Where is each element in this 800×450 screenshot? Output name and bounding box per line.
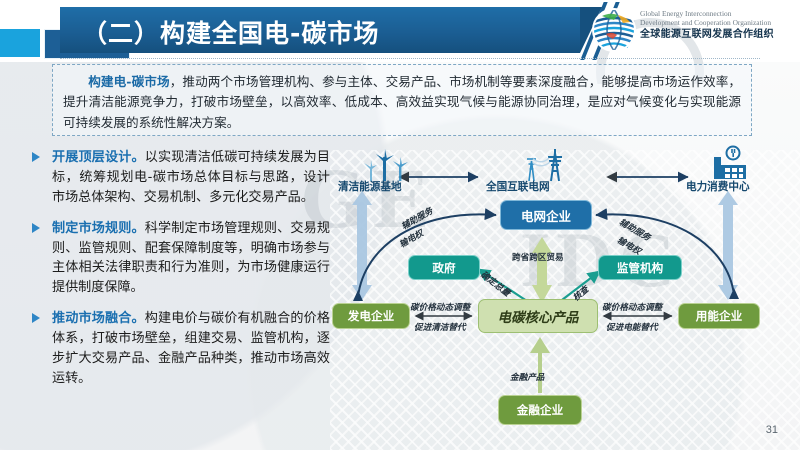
node-energy-user-enterprise[interactable]: 用能企业: [678, 303, 760, 329]
bullet-item-2: 制定市场规则。科学制定市场管理规则、交易规则、监管规则、配套保障制度等，明确市场…: [30, 219, 330, 299]
arrow-bullet-icon: [32, 223, 40, 233]
bullet-2-lead: 制定市场规则。: [52, 221, 145, 236]
bullet-item-3: 推动市场融合。构建电价与碳价有机融合的价格体系，打破市场壁垒，组建交易、监管机构…: [30, 309, 330, 389]
geidco-globe-icon: [590, 6, 638, 54]
edge-label-right-price-bottom: 促进电能替代: [606, 321, 658, 333]
bullet-3-lead: 推动市场融合。: [52, 311, 145, 326]
node-grid-enterprise[interactable]: 电网企业: [500, 200, 592, 230]
edge-label-financial-product: 金融产品: [510, 371, 544, 383]
electricity-carbon-market-diagram: 清洁能源基地 全国互联电网: [330, 145, 800, 435]
edge-label-right-price-top: 碳价格动态调整: [602, 301, 662, 313]
logo-en-line2: Development and Cooperation Organization: [640, 19, 800, 28]
node-generation-enterprise[interactable]: 发电企业: [332, 303, 410, 329]
intro-paragraph: 构建电-碳市场，推动两个市场管理机构、参与主体、交易产品、市场机制等要素深度融合…: [63, 72, 741, 133]
edge-label-left-price-top: 碳价格动态调整: [410, 301, 470, 313]
logo-cn-name: 全球能源互联网发展合作组织: [640, 29, 800, 41]
node-regulator[interactable]: 监管机构: [598, 255, 682, 280]
intro-lead: 构建电-碳市场: [88, 74, 170, 89]
page-number: 31: [766, 424, 778, 436]
node-government[interactable]: 政府: [408, 255, 480, 280]
slide-header: （二）构建全国电-碳市场: [0, 0, 800, 62]
node-core-product[interactable]: 电碳核心产品: [478, 299, 598, 333]
label-power-consumption-center: 电力消费中心: [686, 179, 750, 194]
edge-label-cross-region-trade: 跨省跨区贸易: [512, 251, 564, 263]
accent-square-cyan: [0, 29, 40, 57]
header-dotted-rule: [60, 58, 760, 59]
geidco-wordmark: Global Energy Interconnection Developmen…: [640, 10, 800, 41]
label-national-grid: 全国互联电网: [486, 179, 550, 194]
node-financial-enterprise[interactable]: 金融企业: [498, 395, 582, 425]
label-clean-energy-base: 清洁能源基地: [338, 179, 402, 194]
bullet-1-lead: 开展顶层设计。: [52, 150, 145, 165]
bullet-item-1: 开展顶层设计。以实现清洁低碳可持续发展为目标，统筹规划电-碳市场总体目标与思路，…: [30, 148, 330, 208]
arrow-bullet-icon: [32, 152, 40, 162]
bullet-list: 开展顶层设计。以实现清洁低碳可持续发展为目标，统筹规划电-碳市场总体目标与思路，…: [30, 148, 330, 400]
slide: GE IDC （二）构建全国电-碳市场: [0, 0, 800, 450]
header-title-bar: （二）构建全国电-碳市场: [60, 7, 580, 53]
edge-label-left-price-bottom: 促进清洁替代: [414, 321, 466, 333]
arrow-bullet-icon: [32, 313, 40, 323]
page-title: （二）构建全国电-碳市场: [82, 14, 379, 50]
intro-callout-box: 构建电-碳市场，推动两个市场管理机构、参与主体、交易产品、市场机制等要素深度融合…: [52, 64, 752, 136]
